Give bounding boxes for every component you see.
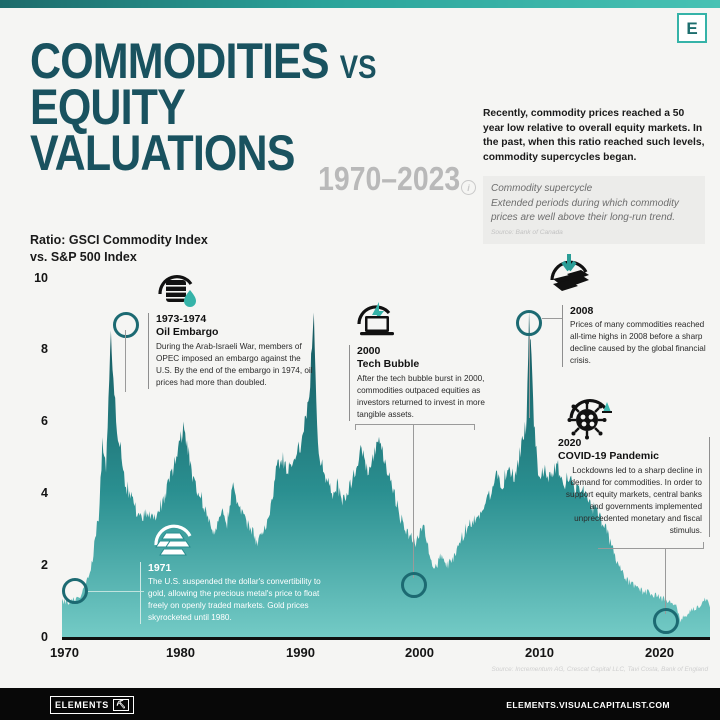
marker-2000 xyxy=(401,572,427,598)
annotation-subtitle: Tech Bubble xyxy=(357,358,497,372)
x-tick-1970: 1970 xyxy=(50,645,79,660)
leader-line-2020-horizontal xyxy=(598,548,704,549)
annotation-body: During the Arab-Israeli War, members of … xyxy=(156,341,314,389)
y-tick-8: 8 xyxy=(24,342,48,356)
y-tick-6: 6 xyxy=(24,414,48,428)
marker-2020 xyxy=(653,608,679,634)
y-tick-4: 4 xyxy=(24,486,48,500)
infographic-page: E COMMODITIES VSEQUITY VALUATIONS 1970–2… xyxy=(0,0,720,720)
title-years: 1970–2023 xyxy=(30,160,460,198)
leader-line-1971 xyxy=(88,591,144,592)
title-heading: COMMODITIES VSEQUITY VALUATIONS xyxy=(30,38,434,176)
annotation-body: Prices of many commodities reached all-t… xyxy=(570,319,710,367)
elements-logo-letter: E xyxy=(686,20,697,37)
intro-paragraph: Recently, commodity prices reached a 50 … xyxy=(483,107,705,165)
footer-logo[interactable]: ELEMENTS ⛏ xyxy=(50,696,134,714)
annotation-body: The U.S. suspended the dollar's converti… xyxy=(148,576,330,624)
gold-bars-icon xyxy=(150,517,198,566)
annotation-year: 2020 xyxy=(558,437,702,450)
x-tick-2010: 2010 xyxy=(525,645,554,660)
annotation-subtitle: COVID-19 Pandemic xyxy=(558,450,702,464)
x-tick-1990: 1990 xyxy=(286,645,315,660)
top-accent-bar xyxy=(0,0,720,8)
y-axis-title: Ratio: GSCI Commodity Indexvs. S&P 500 I… xyxy=(30,232,208,265)
leader-line-1973 xyxy=(125,330,126,392)
leader-line-2008-connector xyxy=(542,318,562,319)
x-tick-1980: 1980 xyxy=(166,645,195,660)
leader-line-2000-left-tick xyxy=(355,424,356,430)
x-axis-line xyxy=(62,637,710,640)
annotation-year: 2000 xyxy=(357,345,497,358)
leader-line-2020-right-tick xyxy=(703,542,704,549)
marker-1971 xyxy=(62,578,88,604)
footer-brand: ELEMENTS xyxy=(55,700,109,710)
x-tick-2000: 2000 xyxy=(405,645,434,660)
footer-mark-icon: ⛏ xyxy=(113,699,129,711)
page-title: COMMODITIES VSEQUITY VALUATIONS xyxy=(30,38,500,176)
title-vs: VS xyxy=(340,49,377,85)
annotation-year: 1971 xyxy=(148,562,330,575)
annotation-body: After the tech bubble burst in 2000, com… xyxy=(357,373,497,421)
y-tick-10: 10 xyxy=(24,271,48,285)
oil-barrel-icon xyxy=(155,272,199,317)
annotation-covid-pandemic: 2020 COVID-19 Pandemic Lockdowns led to … xyxy=(558,437,710,537)
annotation-year: 2008 xyxy=(570,305,710,318)
annotation-financial-crisis: 2008 Prices of many commodities reached … xyxy=(562,305,710,367)
supercycle-definition-box: Commodity supercycle Extended periods du… xyxy=(483,176,705,244)
money-stack-icon xyxy=(545,252,593,303)
supercycle-definition: Extended periods during which commodity … xyxy=(491,197,697,226)
x-tick-2020: 2020 xyxy=(645,645,674,660)
leader-line-2000-horizontal xyxy=(355,424,475,425)
supercycle-source: Source: Bank of Canada xyxy=(491,229,697,236)
annotation-year: 1973-1974 xyxy=(156,313,314,326)
annotation-tech-bubble: 2000 Tech Bubble After the tech bubble b… xyxy=(349,345,497,421)
info-icon: i xyxy=(461,180,476,195)
supercycle-term: Commodity supercycle xyxy=(491,182,697,197)
annotation-gold-standard: 1971 The U.S. suspended the dollar's con… xyxy=(140,562,330,624)
annotation-subtitle: Oil Embargo xyxy=(156,326,314,340)
y-tick-0: 0 xyxy=(24,630,48,644)
y-tick-2: 2 xyxy=(24,558,48,572)
leader-line-2000-right-tick xyxy=(474,424,475,430)
leader-line-2020-drop xyxy=(665,548,666,614)
annotation-oil-embargo: 1973-1974 Oil Embargo During the Arab-Is… xyxy=(148,313,314,389)
leader-line-2008 xyxy=(529,336,530,418)
marker-2008 xyxy=(516,310,542,336)
chart-source: Source: Incrementum AG, Crescat Capital … xyxy=(491,666,708,673)
laptop-icon xyxy=(355,300,401,347)
elements-logo: E xyxy=(677,13,707,43)
annotation-body: Lockdowns led to a sharp decline in dema… xyxy=(558,465,702,537)
leader-line-2000-drop xyxy=(413,424,414,578)
footer-url[interactable]: ELEMENTS.VISUALCAPITALIST.COM xyxy=(506,700,670,710)
